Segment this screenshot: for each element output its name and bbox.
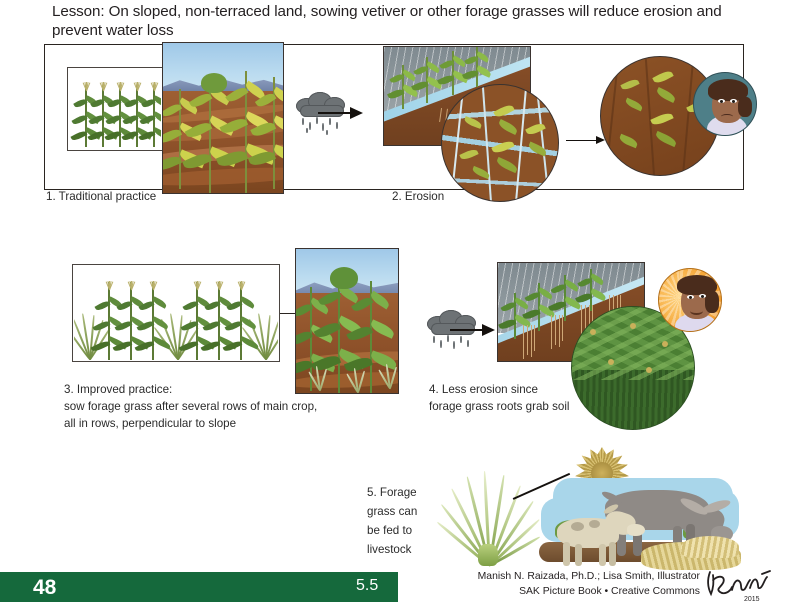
page-number: 48	[33, 576, 56, 600]
caption-step-2: 2. Erosion	[392, 188, 444, 206]
panel-erosion-zoom	[441, 84, 559, 202]
page-root: Lesson: On sloped, non-terraced land, so…	[0, 0, 792, 612]
caption-step-5-line3: be fed to	[367, 522, 412, 540]
panel-happy-farmer	[658, 268, 722, 332]
arrow-icon-2	[566, 140, 598, 141]
credit-line-1: Manish N. Raizada, Ph.D.; Lisa Smith, Il…	[478, 570, 700, 585]
caption-step-4-line1: 4. Less erosion since	[429, 381, 538, 399]
caption-step-3-line2: sow forage grass after several rows of m…	[64, 398, 317, 416]
arrow-icon-3	[450, 329, 484, 331]
panel-improved-field	[74, 266, 278, 360]
root-bundle	[522, 325, 536, 359]
arrow-head-icon-3	[482, 324, 495, 336]
caption-step-5-line4: livestock	[367, 541, 411, 559]
illustrator-signature: 2015	[704, 568, 772, 602]
caption-step-5-line2: grass can	[367, 503, 417, 521]
caption-step-4-line2: forage grass roots grab soil	[429, 398, 569, 416]
rain-cloud-icon-1	[294, 92, 350, 138]
credits: Manish N. Raizada, Ph.D.; Lisa Smith, Il…	[478, 570, 700, 599]
page-title: Lesson: On sloped, non-terraced land, so…	[52, 2, 772, 40]
row1-frame-left-edge	[44, 44, 45, 190]
caption-step-3-line1: 3. Improved practice:	[64, 381, 172, 399]
rain-cloud-icon-2	[425, 310, 481, 354]
arrow-head-icon-1	[350, 107, 363, 119]
panel-improved-photo	[295, 248, 399, 394]
caption-step-3-line3: all in rows, perpendicular to slope	[64, 415, 236, 433]
caption-step-1: 1. Traditional practice	[46, 188, 156, 206]
panel-traditional-field	[69, 69, 161, 149]
signature-year: 2015	[744, 596, 760, 602]
panel-livestock	[533, 472, 743, 570]
footer-bar	[0, 572, 398, 602]
panel-traditional-photo	[162, 42, 284, 194]
panel-worried-farmer	[693, 72, 757, 136]
section-number: 5.5	[356, 577, 378, 595]
arrow-icon-1	[318, 112, 352, 114]
caption-step-5-line1: 5. Forage	[367, 484, 417, 502]
connector-2	[280, 313, 296, 314]
root-bundle	[550, 315, 564, 349]
credit-line-2: SAK Picture Book • Creative Commons	[478, 585, 700, 600]
